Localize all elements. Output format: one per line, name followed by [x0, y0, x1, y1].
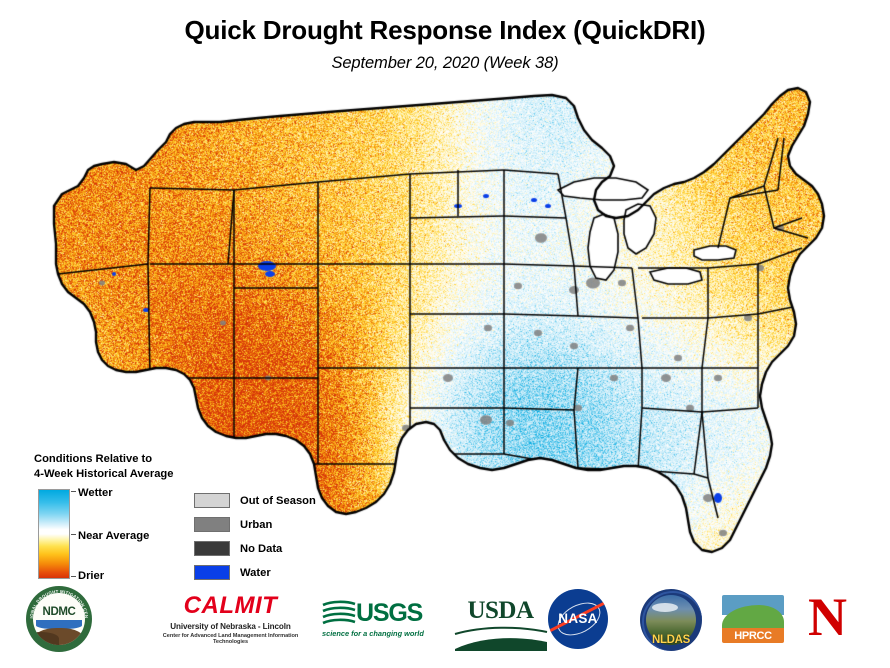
nebraska-n-letter: N: [808, 592, 872, 643]
ndmc-hills-graphic-2: [33, 632, 59, 645]
legend-title-line2: 4-Week Historical Average: [34, 467, 209, 482]
usgs-wave-icon: [322, 600, 356, 626]
calmit-acronym: CALMIT: [148, 594, 313, 618]
legend-label-drier: Drier: [78, 570, 104, 582]
swatch-urban: [194, 517, 230, 532]
calmit-logo[interactable]: CALMIT University of Nebraska - Lincoln …: [148, 586, 313, 662]
ndmc-seal-icon: NATIONAL DROUGHT MITIGATION CENTER UNIVE…: [26, 586, 92, 652]
usgs-tagline: science for a changing world: [322, 629, 447, 638]
legend-category-out-of-season: Out of Season: [194, 489, 316, 513]
calmit-university-line: University of Nebraska - Lincoln: [148, 622, 313, 631]
legend-title: Conditions Relative to 4-Week Historical…: [34, 452, 209, 482]
nldas-emblem-icon: NLDAS: [640, 589, 702, 651]
swatch-no-data: [194, 541, 230, 556]
nldas-acronym: NLDAS: [640, 634, 702, 646]
legend-category-water: Water: [194, 561, 316, 585]
page-title: Quick Drought Response Index (QuickDRI): [0, 16, 890, 45]
map-legend: Conditions Relative to 4-Week Historical…: [34, 452, 334, 585]
color-ramp-gradient: [38, 489, 70, 579]
map-date-subtitle: September 20, 2020 (Week 38): [0, 54, 890, 73]
ramp-tick-near-average: [71, 534, 76, 535]
usda-logo[interactable]: USDA: [448, 586, 553, 666]
partner-logo-bar: NATIONAL DROUGHT MITIGATION CENTER UNIVE…: [0, 586, 890, 658]
usda-landscape-icon: [453, 625, 549, 651]
legend-label-water: Water: [240, 567, 271, 579]
legend-category-list: Out of Season Urban No Data Water: [194, 489, 316, 585]
ndmc-acronym: NDMC: [33, 606, 85, 618]
legend-label-out-of-season: Out of Season: [240, 495, 316, 507]
nasa-acronym: NASA: [548, 611, 608, 626]
usgs-row: USGS: [322, 600, 447, 626]
legend-category-urban: Urban: [194, 513, 316, 537]
legend-label-wetter: Wetter: [78, 487, 113, 499]
nasa-meatball-icon: NASA: [548, 589, 608, 649]
swatch-water: [194, 565, 230, 580]
hprcc-acronym: HPRCC: [722, 630, 784, 642]
usgs-logo[interactable]: USGS science for a changing world: [322, 586, 447, 668]
title-block: Quick Drought Response Index (QuickDRI) …: [0, 16, 890, 73]
legend-label-no-data: No Data: [240, 543, 282, 555]
ndmc-logo[interactable]: NATIONAL DROUGHT MITIGATION CENTER UNIVE…: [26, 586, 106, 654]
legend-color-ramp: [38, 489, 72, 581]
nldas-logo[interactable]: NLDAS: [640, 586, 712, 657]
legend-label-urban: Urban: [240, 519, 272, 531]
nebraska-logo[interactable]: N: [808, 586, 872, 660]
legend-label-near-average: Near Average: [78, 530, 149, 542]
swatch-out-of-season: [194, 493, 230, 508]
hprcc-icon: HPRCC: [722, 595, 784, 643]
hprcc-logo[interactable]: HPRCC: [722, 586, 796, 663]
ndmc-seal-inner: NDMC: [33, 593, 85, 645]
calmit-center-line: Center for Advanced Land Management Info…: [148, 633, 313, 645]
ramp-tick-drier: [71, 576, 76, 577]
usgs-acronym: USGS: [356, 601, 422, 626]
legend-body: Wetter Near Average Drier Out of Season …: [34, 489, 334, 585]
legend-category-no-data: No Data: [194, 537, 316, 561]
ramp-tick-wetter: [71, 491, 76, 492]
usda-acronym: USDA: [448, 598, 553, 623]
nasa-logo[interactable]: NASA: [548, 586, 626, 657]
legend-title-line1: Conditions Relative to: [34, 452, 209, 467]
